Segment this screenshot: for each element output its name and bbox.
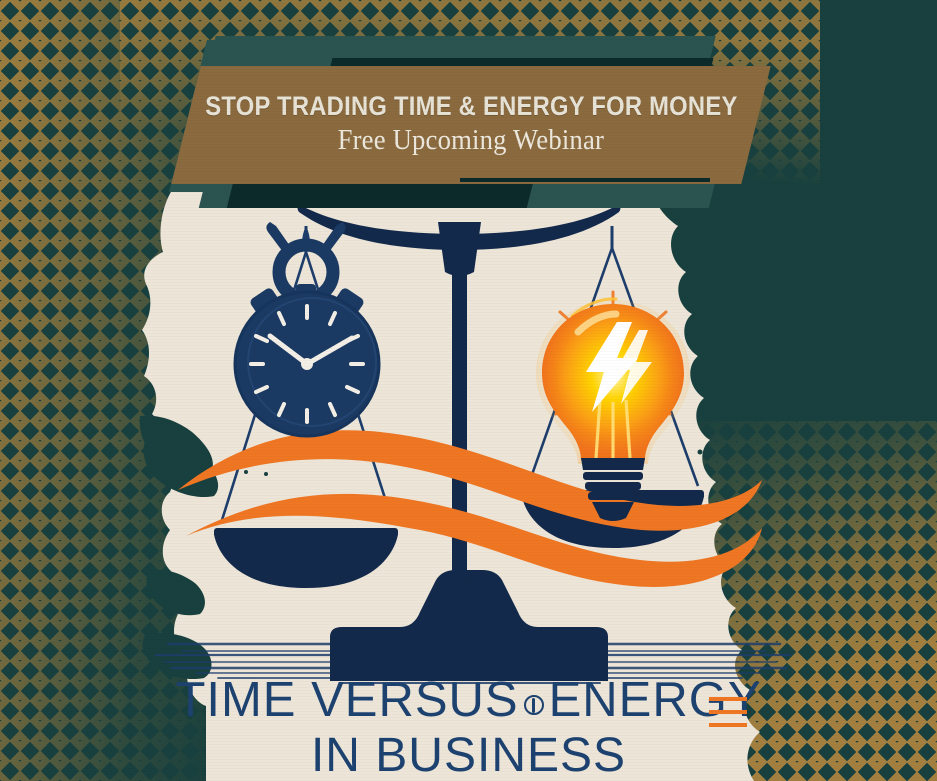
banner-text-block: STOP TRADING TIME & ENERGY FOR MONEY Fre… (186, 68, 756, 180)
orange-accent-lines (709, 697, 747, 727)
left-pan-dish (214, 534, 398, 588)
banner-subhead: Free Upcoming Webinar (338, 124, 604, 157)
accent-line-3 (709, 723, 747, 727)
accent-line-2 (709, 710, 747, 714)
accent-line-1 (709, 697, 747, 701)
bulb-screw-base (581, 458, 645, 470)
banner-headline: STOP TRADING TIME & ENERGY FOR MONEY (205, 91, 737, 122)
poster-canvas: STOP TRADING TIME & ENERGY FOR MONEY Fre… (0, 0, 937, 781)
banner: STOP TRADING TIME & ENERGY FOR MONEY Fre… (0, 0, 937, 230)
scale-crossbar-hub (438, 222, 481, 276)
scale-base-shape (330, 570, 608, 681)
